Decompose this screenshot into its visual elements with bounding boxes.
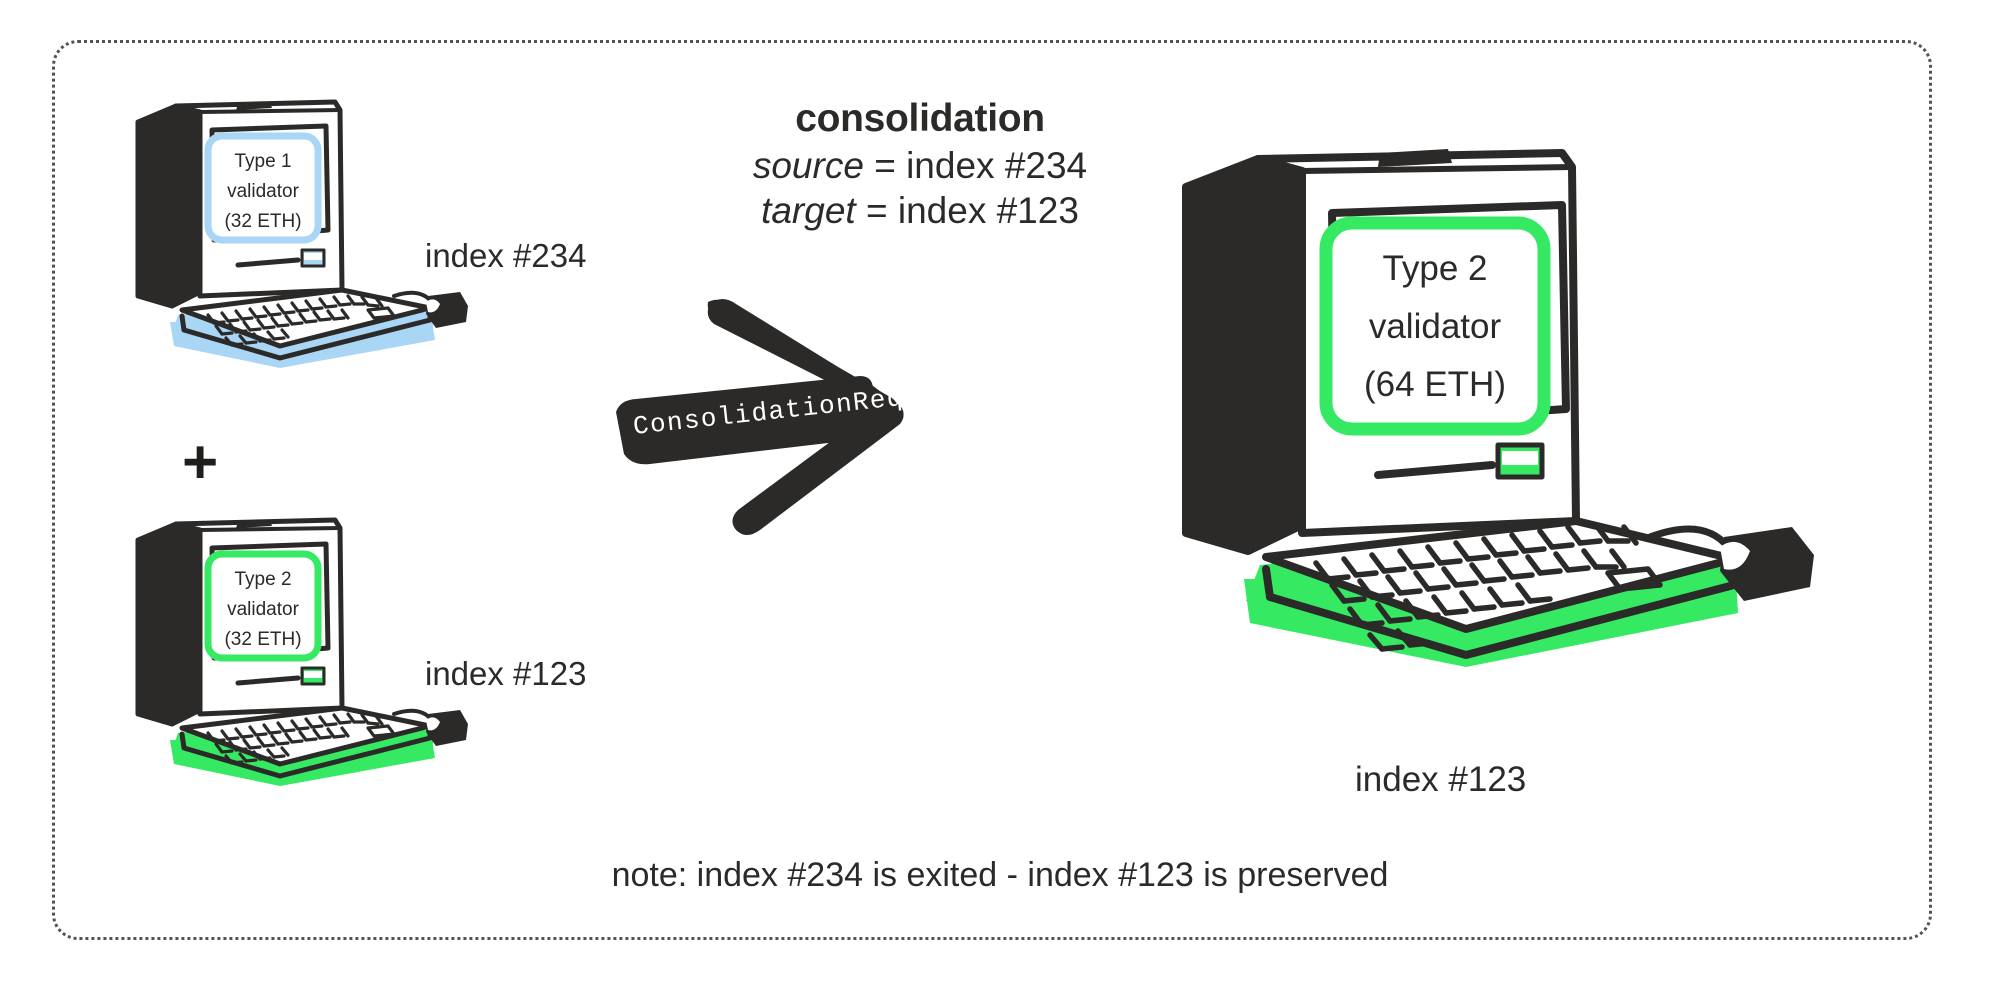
header-source-line: source = index #234 bbox=[640, 143, 1200, 188]
header-title: consolidation bbox=[640, 95, 1200, 143]
validator-computer-result: Type 2 validator (64 ETH) bbox=[1180, 155, 1820, 715]
screen-line-3: (32 ETH) bbox=[224, 211, 301, 232]
note-text: note: index #234 is exited - index #123 … bbox=[0, 856, 2000, 895]
source-key: source bbox=[753, 145, 864, 186]
screen-line-1: Type 1 bbox=[234, 151, 291, 172]
validator-computer-type2-32: Type 2 validator (32 ETH) bbox=[130, 518, 470, 808]
header-target-line: target = index #123 bbox=[640, 188, 1200, 233]
target-value: = index #123 bbox=[856, 190, 1079, 231]
source-value: = index #234 bbox=[864, 145, 1087, 186]
screen-line-1: Type 2 bbox=[1382, 249, 1487, 288]
consolidation-arrow: ConsolidationRequest bbox=[610, 300, 930, 550]
plus-symbol: + bbox=[182, 432, 218, 494]
screen-line-3: (64 ETH) bbox=[1364, 365, 1506, 404]
index-label-123-result: index #123 bbox=[1355, 760, 1526, 800]
consolidation-header: consolidation source = index #234 target… bbox=[640, 95, 1200, 233]
screen-line-2: validator bbox=[1369, 307, 1502, 346]
index-label-234: index #234 bbox=[425, 237, 586, 275]
screen-line-2: validator bbox=[227, 599, 299, 620]
screen-line-1: Type 2 bbox=[234, 569, 291, 590]
screen-line-2: validator bbox=[227, 181, 299, 202]
target-key: target bbox=[761, 190, 856, 231]
index-label-123-source: index #123 bbox=[425, 655, 586, 693]
diagram-canvas: Type 1 validator (32 ETH) bbox=[0, 0, 2000, 1000]
validator-computer-type1: Type 1 validator (32 ETH) bbox=[130, 100, 470, 390]
screen-line-3: (32 ETH) bbox=[224, 629, 301, 650]
